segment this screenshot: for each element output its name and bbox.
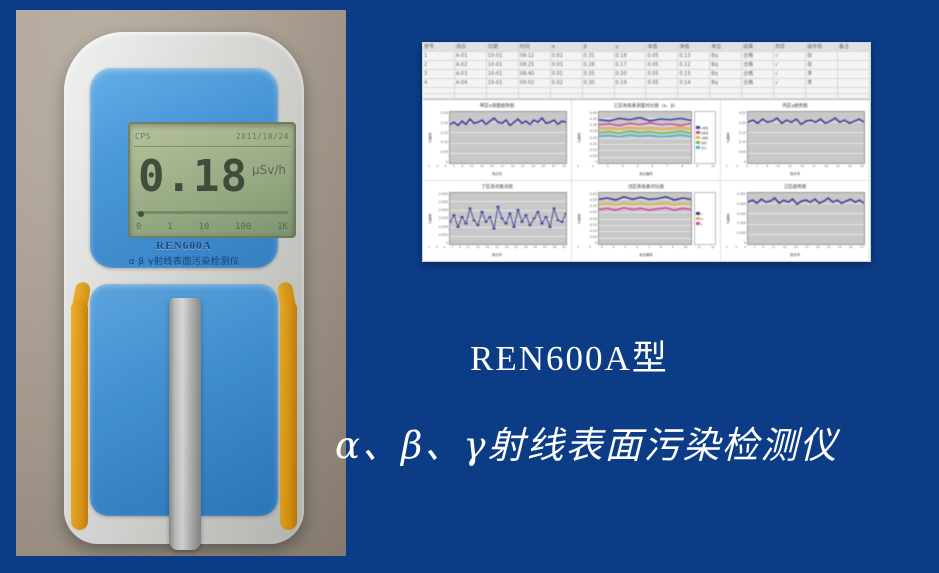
chart-x-tick: 3 [607, 164, 609, 171]
spreadsheet-cell: 0.17 [615, 61, 647, 69]
chart-x-tick: 1 [577, 245, 579, 252]
chart-plot-area: 计数率0.2500.2000.1500.1000.0500 [725, 192, 865, 245]
chart-x-tick: 9 [461, 164, 463, 171]
spreadsheet-cell: 08:25 [519, 61, 551, 69]
chart-y-axis-label: 计数率 [427, 111, 433, 164]
spreadsheet-cell: 合格 [742, 61, 774, 69]
chart-panel: 己区趋势图计数率0.2500.2000.1500.1000.0500135791… [721, 181, 870, 262]
chart-x-tick: 27 [552, 164, 556, 171]
chart-y-tick: 0.25 [582, 210, 597, 214]
spreadsheet-header-cell: 时间 [519, 43, 551, 51]
chart-x-tick: 17 [812, 164, 816, 171]
chart-gridline [748, 163, 864, 164]
spreadsheet-cell: 2 [423, 61, 455, 69]
spreadsheet-cell [615, 88, 647, 93]
spreadsheet-cell: 1 [423, 52, 455, 60]
lcd-scale-tick: 100 [235, 222, 251, 232]
chart-y-tick: 0.10 [582, 148, 597, 152]
chart-legend-item: 净值 [696, 141, 714, 145]
chart-x-axis: 1357911131517192123252729 [427, 164, 567, 171]
lcd-scale-tick: 10 [198, 222, 209, 232]
device-handle-strip [169, 298, 201, 550]
spreadsheet-cell: 0.35 [583, 70, 615, 78]
chart-y-tick: 0.250 [731, 192, 746, 196]
chart-y-tick: 0.40 [582, 192, 597, 196]
chart-x-tick: 13 [476, 245, 480, 252]
chart-gridline [450, 244, 566, 245]
spreadsheet-cell: 09:02 [519, 79, 551, 87]
chart-legend-swatch [696, 141, 700, 144]
spreadsheet-cell [423, 88, 455, 93]
chart-x-tick: 6 [652, 164, 654, 171]
chart-x-tick: 15 [490, 164, 494, 171]
chart-legend-item: α [696, 212, 714, 216]
device-chinese-label: α β γ射线表面污染检测仪 [90, 254, 278, 267]
chart-title: 己区趋势图 [725, 184, 865, 192]
chart-title: 甲区α测量趋势图 [427, 103, 567, 111]
spreadsheet-cell: 0.03 [551, 61, 583, 69]
chart-plot-area: 计数率0.400.350.300.250.200.150.100.050α本底β… [576, 111, 716, 164]
spreadsheet-cell [806, 88, 838, 93]
chart-x-tick: 21 [521, 164, 525, 171]
chart-x-tick: 8 [681, 164, 683, 171]
product-photo: CPS 2011/10/24 0.18 μSv/h 01101001K REN6… [16, 10, 346, 556]
chart-y-tick: 0.25 [731, 111, 746, 115]
chart-legend-item: γ [696, 222, 714, 226]
lcd-status-bar: CPS 2011/10/24 [135, 128, 289, 144]
chart-y-tick: 0.30 [582, 123, 597, 127]
chart-x-tick: 7 [451, 245, 453, 252]
chart-x-axis-label: 测点号 [725, 171, 865, 177]
spreadsheet-cell: 0.30 [583, 79, 615, 87]
chart-x-axis: 12345678910 [576, 164, 716, 171]
chart-x-tick: 7 [648, 245, 650, 252]
spreadsheet-cell: 0.05 [646, 61, 678, 69]
lcd-reading: 0.18 μSv/h [138, 148, 290, 206]
spreadsheet-header-cell: γ [615, 43, 647, 51]
chart-plot [747, 192, 865, 245]
chart-gridline [599, 163, 691, 164]
spreadsheet-cell: A-04 [455, 79, 487, 87]
chart-x-tick: 17 [495, 245, 499, 252]
chart-x-tick: 9 [672, 245, 674, 252]
chart-x-tick: 19 [824, 164, 828, 171]
chart-x-tick: 29 [553, 245, 557, 252]
chart-y-tick: 0.25 [582, 129, 597, 133]
chart-y-tick: 0.30 [582, 204, 597, 208]
chart-y-tick: 0.200 [433, 208, 448, 212]
spreadsheet-cell [455, 88, 487, 93]
chart-x-tick: 15 [794, 245, 798, 252]
spreadsheet-cell: Bq [710, 79, 742, 87]
chart-legend: α本底β本底γ本底净值合计 [694, 111, 716, 164]
chart-x-tick: 3 [601, 245, 603, 252]
spreadsheet-cell [742, 88, 774, 93]
chart-plot-area: 计数率0.400.350.300.250.200.150.100.050αβγ [576, 192, 716, 245]
chart-x-tick: 13 [783, 245, 787, 252]
chart-legend-swatch [696, 212, 700, 215]
spreadsheet-cell [678, 94, 710, 99]
spreadsheet-header-cell: 本底 [646, 43, 678, 51]
spreadsheet-cell [519, 88, 551, 93]
chart-y-tick: 0.05 [582, 154, 597, 158]
spreadsheet-row: 2A-0210-0108:250.030.280.170.050.12Bq合格√… [423, 61, 870, 70]
chart-y-tick: 0.100 [731, 221, 746, 225]
spreadsheet-header-cell: α [551, 43, 583, 51]
spreadsheet-cell: 0.14 [678, 79, 710, 87]
spreadsheet-cell: A-01 [455, 52, 487, 60]
chart-y-axis: 0.400.350.300.250.200.150.100.050 [582, 192, 598, 245]
chart-y-axis: 0.250.200.150.100.050 [731, 111, 747, 164]
spreadsheet-cell [838, 70, 870, 78]
chart-y-tick: 0.35 [582, 117, 597, 121]
chart-x-tick: 25 [849, 245, 853, 252]
grip-left [71, 300, 88, 530]
chart-x-tick: 7 [756, 164, 758, 171]
chart-y-tick: 0.05 [731, 150, 746, 154]
chart-legend-swatch [696, 126, 700, 129]
spreadsheet-cell: 10-01 [487, 61, 519, 69]
spreadsheet-cell: 张 [806, 52, 838, 60]
spreadsheet-cell: 0.05 [646, 79, 678, 87]
spreadsheet-cell: 0.12 [678, 61, 710, 69]
chart-title: 丙区γ趋势图 [725, 103, 865, 111]
chart-y-tick: 0.15 [582, 223, 597, 227]
spreadsheet-cell: 10-01 [487, 70, 519, 78]
chart-panel: 戊区各核素对比图计数率0.400.350.300.250.200.150.100… [572, 181, 721, 262]
spreadsheet-cell: A-02 [455, 61, 487, 69]
chart-x-tick: 7 [753, 245, 755, 252]
chart-title: 丁区测点散点图 [427, 184, 567, 192]
chart-plot [449, 111, 567, 164]
chart-x-tick: 3 [436, 164, 438, 171]
spreadsheet-cell [838, 88, 870, 93]
chart-y-tick: 0.20 [731, 121, 746, 125]
chart-y-tick: 0.050 [433, 233, 448, 237]
spreadsheet-cell: Bq [710, 61, 742, 69]
spreadsheet-cell [710, 94, 742, 99]
spreadsheet-cell: 张 [806, 61, 838, 69]
chart-legend-label: α本底 [701, 126, 708, 130]
radiation-detector-device: CPS 2011/10/24 0.18 μSv/h 01101001K REN6… [64, 32, 304, 544]
chart-gridline [748, 244, 864, 245]
spreadsheet-header-cell: 操作员 [806, 43, 838, 51]
spreadsheet-cell: 0.02 [551, 52, 583, 60]
chart-x-tick: 7 [666, 164, 668, 171]
lcd-bargraph [136, 211, 288, 214]
spreadsheet-cell: 10-01 [487, 79, 519, 87]
spreadsheet-cell [774, 88, 806, 93]
spreadsheet-header-cell: 判定 [774, 43, 806, 51]
chart-legend-label: γ [701, 222, 703, 226]
chart-legend-label: β本底 [701, 131, 708, 135]
spreadsheet-cell: 08:12 [519, 52, 551, 60]
spreadsheet-cell: 李 [806, 70, 838, 78]
spreadsheet-cell: √ [774, 79, 806, 87]
lcd-value: 0.18 [138, 155, 248, 199]
chart-x-tick: 4 [613, 245, 615, 252]
chart-plot [598, 111, 692, 164]
chart-plot-area: 计数率0.3000.2500.2000.1500.1000.0500 [427, 192, 567, 245]
chart-legend: αβγ [694, 192, 716, 245]
chart-x-axis-label: 测点号 [427, 252, 567, 258]
chart-x-tick: 19 [505, 245, 509, 252]
chart-panel-grid: 甲区α测量趋势图计数率0.250.200.150.100.05013579111… [423, 100, 870, 262]
lcd-status-right: 2011/10/24 [236, 132, 289, 141]
spreadsheet-cell [710, 88, 742, 93]
spreadsheet-cell [838, 94, 870, 99]
chart-legend-swatch [696, 136, 700, 139]
chart-y-tick: 0.15 [582, 142, 597, 146]
chart-x-tick: 1 [428, 245, 430, 252]
chart-x-tick: 1 [428, 164, 430, 171]
spreadsheet-header-cell: 备注 [838, 43, 870, 51]
chart-x-tick: 25 [860, 164, 864, 171]
chart-plot-area: 计数率0.250.200.150.100.050 [725, 111, 865, 164]
slide-background: CPS 2011/10/24 0.18 μSv/h 01101001K REN6… [0, 0, 939, 573]
spreadsheet-cell: √ [774, 70, 806, 78]
chart-x-tick: 29 [562, 164, 566, 171]
spreadsheet-cell: √ [774, 61, 806, 69]
chart-legend-label: 合计 [701, 146, 707, 150]
chart-x-tick: 27 [860, 245, 864, 252]
lcd-scale-tick: 0 [136, 222, 141, 232]
chart-x-tick: 21 [836, 164, 840, 171]
spreadsheet-cell [646, 94, 678, 99]
spreadsheet-cell [838, 79, 870, 87]
spreadsheet-cell [551, 88, 583, 93]
chart-legend-label: α [701, 212, 703, 216]
chart-x-tick: 3 [436, 245, 438, 252]
software-screenshot: 序号测点日期时间αβγ本底净值单位结果判定操作员备注1A-0110-0108:1… [422, 42, 871, 262]
chart-y-axis: 0.400.350.300.250.200.150.100.050 [582, 111, 598, 164]
chart-x-tick: 4 [622, 164, 624, 171]
chart-x-tick: 15 [800, 164, 804, 171]
chart-y-axis: 0.3000.2500.2000.1500.1000.0500 [433, 192, 449, 245]
lcd-status-left: CPS [135, 132, 151, 141]
chart-x-tick: 1 [726, 245, 728, 252]
chart-x-tick: 23 [524, 245, 528, 252]
chart-legend-item: α本底 [696, 126, 714, 130]
spreadsheet-cell: 0.18 [615, 52, 647, 60]
chart-legend-label: γ本底 [701, 136, 708, 140]
chart-y-axis: 0.2500.2000.1500.1000.0500 [731, 192, 747, 245]
chart-panel: 乙区各核素测量对比图（α、β）计数率0.400.350.300.250.200.… [572, 100, 721, 181]
chart-legend-item: β [696, 217, 714, 221]
spreadsheet-row: 4A-0410-0109:020.020.300.190.050.14Bq合格√… [423, 79, 870, 88]
chart-y-tick: 0.050 [731, 231, 746, 235]
chart-y-tick: 0.10 [731, 140, 746, 144]
lcd-scale-tick: 1 [167, 222, 172, 232]
chart-x-tick: 25 [533, 245, 537, 252]
spreadsheet-cell: 0.31 [583, 52, 615, 60]
spreadsheet-grid: 序号测点日期时间αβγ本底净值单位结果判定操作员备注1A-0110-0108:1… [423, 43, 870, 100]
chart-x-tick: 9 [763, 245, 765, 252]
chart-x-tick: 23 [848, 164, 852, 171]
chart-x-axis: 13579111315171921232527 [725, 245, 865, 252]
chart-y-tick: 0.150 [433, 216, 448, 220]
chart-title: 乙区各核素测量对比图（α、β） [576, 103, 716, 111]
spreadsheet-cell [742, 94, 774, 99]
chart-x-tick: 21 [827, 245, 831, 252]
spreadsheet-cell [551, 94, 583, 99]
chart-x-axis-label: 测点号 [725, 252, 865, 258]
chart-y-tick: 0.300 [433, 192, 448, 196]
chart-x-tick: 5 [744, 245, 746, 252]
chart-x-tick: 8 [660, 245, 662, 252]
spreadsheet-cell [583, 94, 615, 99]
chart-y-tick: 0.40 [582, 111, 597, 115]
spreadsheet-cell: 合格 [742, 79, 774, 87]
chart-x-tick: 5 [637, 164, 639, 171]
chart-plot [747, 111, 865, 164]
chart-y-axis: 0.250.200.150.100.050 [433, 111, 449, 164]
chart-legend-item: β本底 [696, 131, 714, 135]
chart-y-tick: 0.35 [582, 198, 597, 202]
chart-x-tick: 5 [445, 164, 447, 171]
chart-x-tick: 11 [697, 245, 701, 252]
spreadsheet-cell [646, 88, 678, 93]
device-model-label: REN600A [90, 240, 278, 252]
spreadsheet-cell [455, 94, 487, 99]
chart-y-tick: 0.20 [433, 121, 448, 125]
chart-x-tick: 10 [684, 245, 688, 252]
chart-y-axis-label: 计数率 [576, 111, 582, 164]
chart-legend-swatch [696, 131, 700, 134]
chart-x-tick: 3 [736, 164, 738, 171]
chart-panel: 甲区α测量趋势图计数率0.250.200.150.100.05013579111… [423, 100, 572, 181]
chart-plot [598, 192, 692, 245]
chart-panel: 丙区γ趋势图计数率0.250.200.150.100.0501357911131… [721, 100, 870, 181]
spreadsheet-header-cell: 净值 [678, 43, 710, 51]
chart-x-tick: 19 [816, 245, 820, 252]
spreadsheet-cell [774, 94, 806, 99]
spreadsheet-cell: 0.01 [551, 70, 583, 78]
spreadsheet-cell: 0.13 [678, 52, 710, 60]
chart-x-tick: 13 [480, 164, 484, 171]
chart-x-tick: 5 [624, 245, 626, 252]
spreadsheet-cell: √ [774, 52, 806, 60]
chart-x-tick: 23 [531, 164, 535, 171]
chart-x-tick: 19 [511, 164, 515, 171]
software-screenshot-content: 序号测点日期时间αβγ本底净值单位结果判定操作员备注1A-0110-0108:1… [423, 43, 870, 262]
chart-x-tick: 17 [500, 164, 504, 171]
chart-x-tick: 7 [453, 164, 455, 171]
chart-x-tick: 2 [592, 164, 594, 171]
chart-y-axis-label: 计数率 [725, 192, 731, 245]
spreadsheet-cell: Bq [710, 70, 742, 78]
chart-x-tick: 1 [726, 164, 728, 171]
chart-y-tick: 0.10 [433, 140, 448, 144]
spreadsheet-cell: 0.19 [615, 79, 647, 87]
chart-x-tick: 1 [577, 164, 579, 171]
chart-x-tick: 11 [776, 164, 780, 171]
chart-x-tick: 3 [735, 245, 737, 252]
chart-plot [449, 192, 567, 245]
spreadsheet-header-cell: β [583, 43, 615, 51]
chart-y-tick: 0.05 [433, 150, 448, 154]
chart-x-tick: 5 [443, 245, 445, 252]
spreadsheet-cell: 李 [806, 79, 838, 87]
chart-x-tick: 11 [772, 245, 776, 252]
model-heading: REN600A型 [470, 330, 910, 381]
chart-legend-swatch [696, 217, 700, 220]
chart-y-tick: 0.200 [731, 202, 746, 206]
spreadsheet-cell [615, 94, 647, 99]
chart-x-tick: 11 [466, 245, 470, 252]
chart-x-tick: 31 [562, 245, 566, 252]
spreadsheet-header-cell: 序号 [423, 43, 455, 51]
chart-title: 戊区各核素对比图 [576, 184, 716, 192]
chart-y-axis-label: 计数率 [725, 111, 731, 164]
chart-x-tick: 11 [470, 164, 474, 171]
chart-x-tick: 27 [543, 245, 547, 252]
chart-y-tick: 0.15 [433, 131, 448, 135]
device-upper-faceplate: CPS 2011/10/24 0.18 μSv/h 01101001K REN6… [90, 68, 278, 268]
chart-x-tick: 9 [459, 245, 461, 252]
chart-y-tick: 0.15 [731, 131, 746, 135]
chart-y-tick: 0.20 [582, 217, 597, 221]
spreadsheet-cell [487, 94, 519, 99]
lcd-divider [134, 146, 290, 147]
chart-x-tick: 13 [788, 164, 792, 171]
chart-gridline [599, 244, 691, 245]
spreadsheet-header-cell: 结果 [742, 43, 774, 51]
spreadsheet-cell: 0.05 [646, 52, 678, 60]
spreadsheet-cell [838, 52, 870, 60]
chart-x-tick: 2 [589, 245, 591, 252]
lcd-unit: μSv/h [252, 163, 286, 177]
chart-legend-swatch [696, 222, 700, 225]
spreadsheet-cell [678, 88, 710, 93]
chart-x-tick: 17 [805, 245, 809, 252]
product-heading: α、β、γ射线表面污染检测仪 [335, 415, 935, 469]
lcd-display: CPS 2011/10/24 0.18 μSv/h 01101001K [128, 122, 296, 238]
chart-x-tick: 21 [514, 245, 518, 252]
chart-y-tick: 0.150 [731, 212, 746, 216]
spreadsheet-cell [519, 94, 551, 99]
chart-x-tick: 23 [838, 245, 842, 252]
chart-y-tick: 0.20 [582, 136, 597, 140]
chart-legend-label: 净值 [701, 141, 707, 145]
spreadsheet-cell: 3 [423, 70, 455, 78]
spreadsheet-cell [806, 94, 838, 99]
spreadsheet-cell: 08:40 [519, 70, 551, 78]
chart-y-axis-label: 计数率 [427, 192, 433, 245]
spreadsheet-row: 1A-0110-0108:120.020.310.180.050.13Bq合格√… [423, 52, 870, 61]
chart-y-tick: 0.250 [433, 200, 448, 204]
spreadsheet-cell: 0.15 [678, 70, 710, 78]
chart-plot-area: 计数率0.250.200.150.100.050 [427, 111, 567, 164]
spreadsheet-header-cell: 日期 [487, 43, 519, 51]
chart-x-axis: 135791113151719212325272931 [427, 245, 567, 252]
spreadsheet-cell: 合格 [742, 52, 774, 60]
spreadsheet-cell: 4 [423, 79, 455, 87]
spreadsheet-cell: 0.20 [615, 70, 647, 78]
spreadsheet-header-cell: 测点 [455, 43, 487, 51]
spreadsheet-cell [487, 88, 519, 93]
spreadsheet-cell: 合格 [742, 70, 774, 78]
chart-x-tick: 12 [711, 245, 715, 252]
chart-gridline [450, 163, 566, 164]
spreadsheet-cell: 0.05 [646, 70, 678, 78]
chart-x-axis: 135791113151719212325 [725, 164, 865, 171]
spreadsheet-row [423, 94, 870, 100]
spreadsheet-header-row: 序号测点日期时间αβγ本底净值单位结果判定操作员备注 [423, 43, 870, 52]
chart-panel: 丁区测点散点图计数率0.3000.2500.2000.1500.1000.050… [423, 181, 572, 262]
spreadsheet-header-cell: 单位 [710, 43, 742, 51]
grip-right [280, 300, 297, 530]
